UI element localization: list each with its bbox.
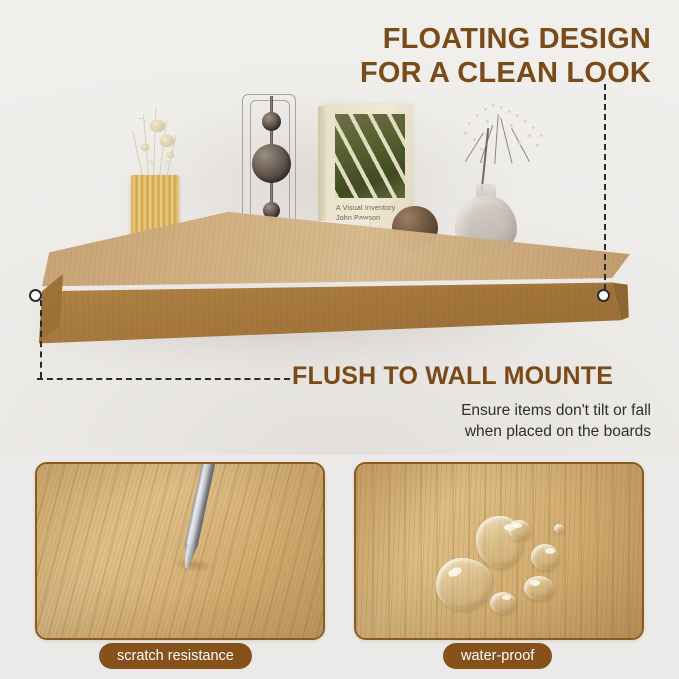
product-feature-infographic: A Visual InventoryJohn Pawson a visual i…: [0, 0, 679, 679]
leader-line-right-vertical: [604, 84, 606, 290]
right-shelf-marker-icon: [597, 289, 610, 302]
caption-line-2: when placed on the boards: [465, 423, 651, 440]
headline-line-1: FLOATING DESIGN: [383, 23, 651, 55]
panel-vignette-water: [356, 464, 642, 638]
page-headline: FLOATING DESIGN FOR A CLEAN LOOK: [360, 22, 651, 90]
leader-line-bottom-horizontal: [37, 378, 290, 380]
panel-vignette-scratch: [37, 464, 323, 638]
caption-line-1: Ensure items don't tilt or fall: [461, 402, 651, 419]
feature-panel-water: [354, 462, 644, 640]
gypsophila-sprig: [440, 104, 568, 166]
book-cover-photo: [335, 114, 405, 198]
left-shelf-marker-icon: [29, 289, 42, 302]
headline-line-2: FOR A CLEAN LOOK: [360, 57, 651, 89]
leader-line-left-vertical: [40, 300, 42, 378]
badge-scratch-resistance: scratch resistance: [99, 643, 252, 669]
page-subheadline: FLUSH TO WALL MOUNTE: [292, 361, 613, 391]
floating-shelf: [30, 210, 630, 355]
badge-water-proof: water-proof: [443, 643, 552, 669]
subheadline-caption: Ensure items don't tilt or fall when pla…: [461, 400, 651, 442]
dried-flowers: [126, 104, 186, 182]
feature-panel-scratch: [35, 462, 325, 640]
